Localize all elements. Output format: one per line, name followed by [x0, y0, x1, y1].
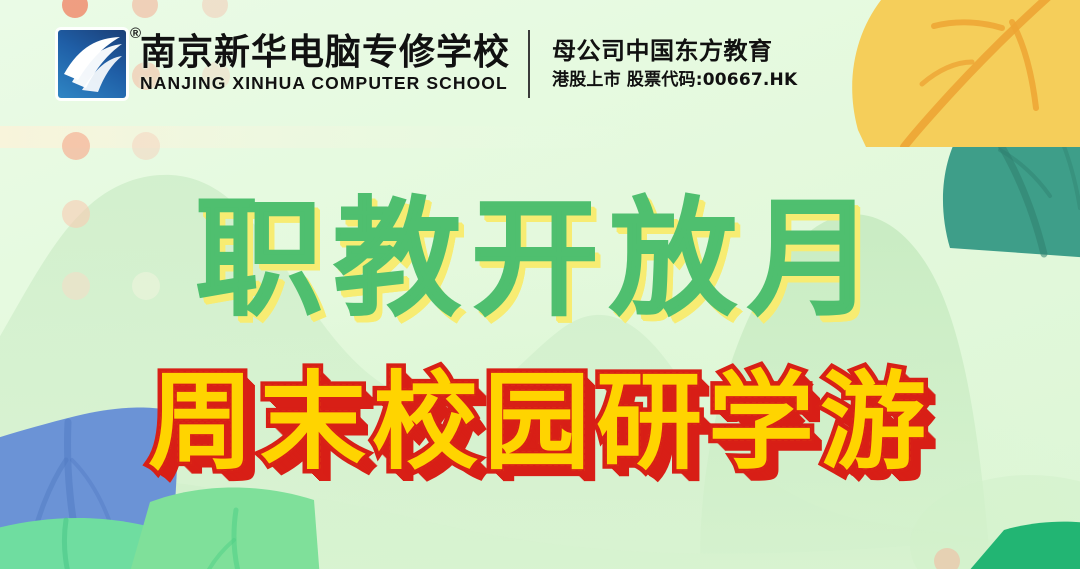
subtitle: 周末校园研学游 周末校园研学游 周末校园研学游: [148, 360, 932, 485]
promo-banner: ® 南京新华电脑专修学校 NANJING XINHUA COMPUTER SCH…: [0, 0, 1080, 569]
school-logo-icon: [58, 30, 126, 98]
dot: [62, 0, 88, 18]
leaf-top-right-yellow-icon: [852, 0, 1080, 147]
dot: [132, 0, 158, 18]
leaf-bottom-left-green2-icon: [128, 484, 328, 569]
dot: [62, 132, 90, 160]
leaf-bottom-right-green-icon: [956, 516, 1080, 569]
header: ® 南京新华电脑专修学校 NANJING XINHUA COMPUTER SCH…: [58, 30, 797, 98]
dot: [202, 0, 228, 18]
school-name-cn: 南京新华电脑专修学校: [140, 34, 510, 73]
subtitle-wrap: 周末校园研学游 周末校园研学游 周末校园研学游: [0, 360, 1080, 490]
dot: [132, 132, 160, 160]
subtitle-face-layer: 周末校园研学游: [148, 361, 932, 484]
stock-listing-info: 港股上市 股票代码:00667.HK: [552, 69, 797, 91]
school-name-block: 南京新华电脑专修学校 NANJING XINHUA COMPUTER SCHOO…: [140, 34, 510, 93]
main-title: 职教开放月: [0, 196, 1080, 324]
dot: [934, 548, 960, 569]
school-name-en: NANJING XINHUA COMPUTER SCHOOL: [140, 74, 510, 93]
header-divider: [528, 30, 530, 98]
parent-company-block: 母公司中国东方教育 港股上市 股票代码:00667.HK: [552, 37, 797, 92]
parent-company-name: 母公司中国东方教育: [552, 37, 797, 66]
